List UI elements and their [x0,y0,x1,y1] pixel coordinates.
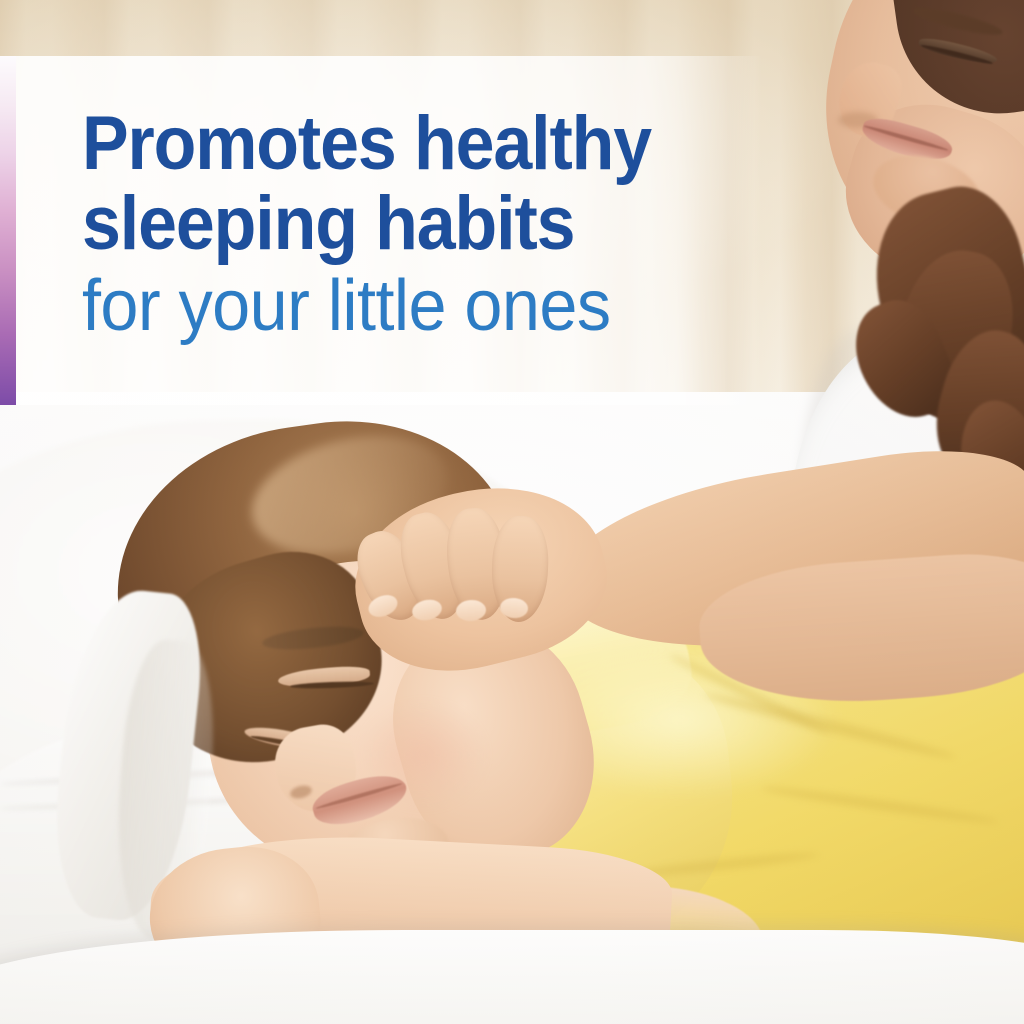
left-gradient-accent-bar [0,56,16,405]
headline-line-2: sleeping habits [82,184,689,264]
marketing-banner: Promotes healthy sleeping habits for you… [0,0,1024,1024]
headline-block: Promotes healthy sleeping habits for you… [82,104,742,348]
headline-line-1: Promotes healthy [82,104,689,184]
subheadline-line-1: for your little ones [82,264,709,348]
bed-sheet-foreground [0,930,1024,1024]
